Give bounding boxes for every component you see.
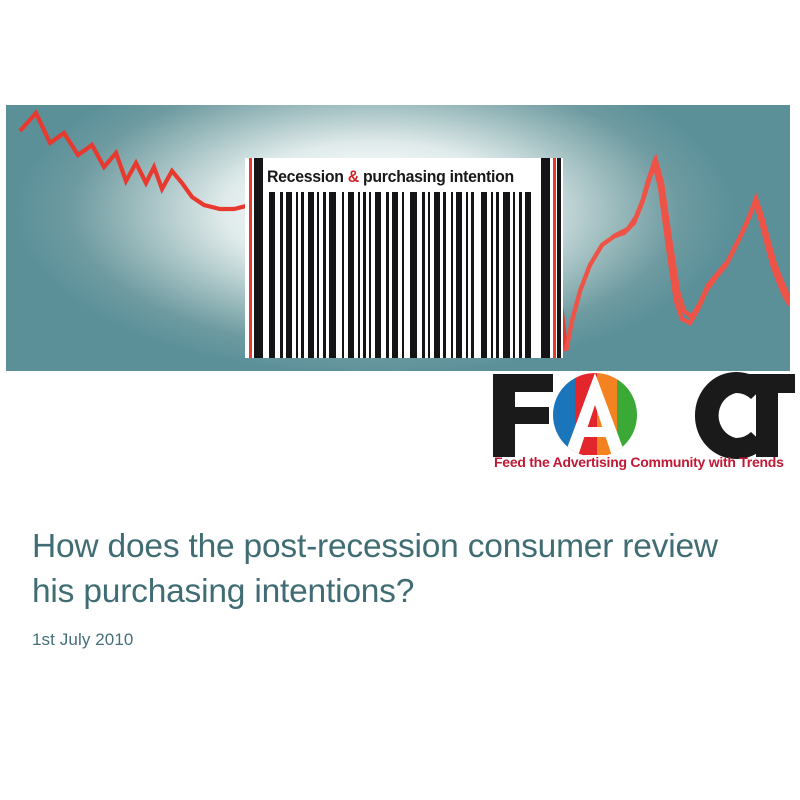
barcode-bar (402, 192, 404, 358)
trendline-right-path-tail (612, 163, 790, 323)
fact-wordmark (489, 371, 795, 459)
barcode-bar (269, 192, 275, 358)
barcode-bar (342, 192, 344, 358)
barcode-title-suffix: purchasing intention (359, 168, 514, 186)
barcode-bar (491, 192, 493, 358)
barcode-bar (513, 192, 515, 358)
barcode-bar (348, 192, 354, 358)
fact-logo: Feed the Advertising Community with Tren… (489, 371, 795, 477)
barcode-bar (481, 192, 487, 358)
barcode-bar (301, 192, 304, 358)
slide-date: 1st July 2010 (32, 630, 762, 650)
page-title: How does the post-recession consumer rev… (32, 524, 732, 614)
barcode-bar (329, 192, 336, 358)
barcode-bar (496, 192, 499, 358)
fact-letter-f (493, 374, 553, 457)
barcode-right-guard-bar-thin (557, 158, 561, 358)
barcode-bar (434, 192, 440, 358)
barcode-bar (369, 192, 371, 358)
barcode-bar (280, 192, 283, 358)
barcode-left-guard-bar (254, 158, 263, 358)
hero-banner: Recession & purchasing intention (6, 105, 790, 371)
barcode-bar (386, 192, 389, 358)
barcode-bars (269, 192, 537, 358)
trendline-right-path (566, 161, 790, 351)
barcode-graphic: Recession & purchasing intention (245, 158, 563, 358)
barcode-bar (296, 192, 298, 358)
barcode-title-prefix: Recession (267, 168, 348, 186)
barcode-bar (422, 192, 425, 358)
barcode-bar (363, 192, 366, 358)
barcode-bar (428, 192, 430, 358)
title-block: How does the post-recession consumer rev… (32, 524, 762, 650)
barcode-bar (466, 192, 468, 358)
fact-a-mark (549, 371, 643, 459)
barcode-title-text: Recession & purchasing intention (267, 164, 536, 190)
barcode-bar (286, 192, 292, 358)
barcode-bar (317, 192, 319, 358)
barcode-bar (503, 192, 510, 358)
barcode-bar (410, 192, 417, 358)
fact-tagline: Feed the Advertising Community with Tren… (494, 455, 790, 471)
barcode-bar (392, 192, 398, 358)
barcode-bar (308, 192, 314, 358)
barcode-bar (519, 192, 522, 358)
barcode-bar (323, 192, 326, 358)
barcode-left-red-rule (249, 158, 252, 358)
barcode-bar (451, 192, 453, 358)
barcode-bar (471, 192, 474, 358)
barcode-bar (525, 192, 531, 358)
barcode-bar (443, 192, 446, 358)
barcode-title-ampersand: & (348, 168, 359, 186)
barcode-right-red-rule (553, 158, 556, 358)
barcode-right-guard-bar (541, 158, 550, 358)
barcode-bar (375, 192, 381, 358)
barcode-bar (456, 192, 462, 358)
barcode-bar (358, 192, 360, 358)
